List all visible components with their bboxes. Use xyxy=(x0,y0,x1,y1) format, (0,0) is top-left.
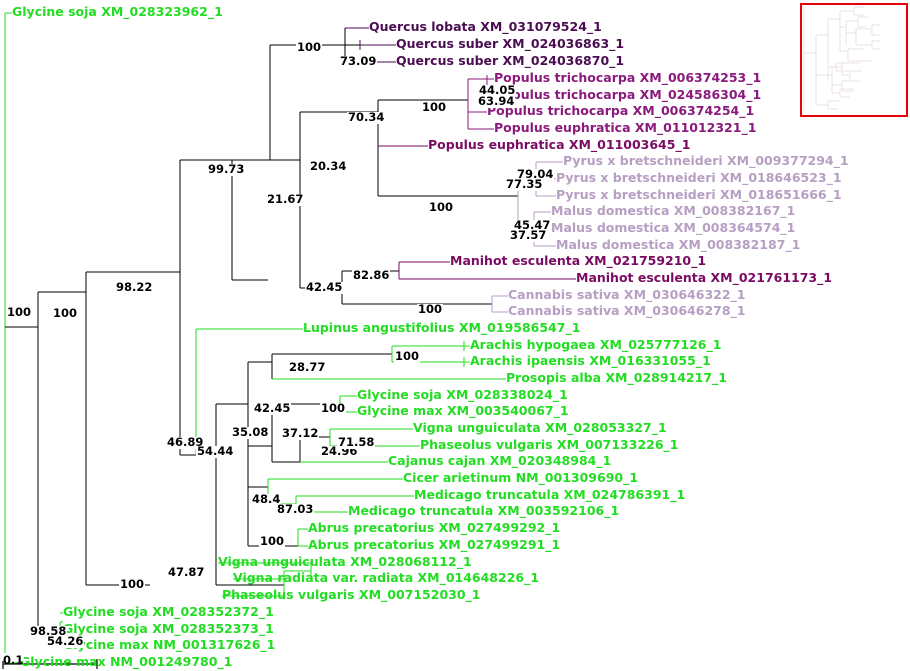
taxon-label[interactable]: Glycine max NM_001317626_1 xyxy=(63,639,275,652)
bootstrap-value: 100 xyxy=(421,102,447,114)
taxon-label[interactable]: Glycine soja XM_028338024_1 xyxy=(357,389,568,402)
bootstrap-value: 77.35 xyxy=(505,179,543,191)
bootstrap-value: 20.34 xyxy=(309,161,347,173)
taxon-label[interactable]: Quercus suber XM_024036870_1 xyxy=(396,55,624,68)
taxon-label[interactable]: Pyrus x bretschneideri XM_018646523_1 xyxy=(556,172,842,185)
taxon-label[interactable]: Cannabis sativa XM_030646322_1 xyxy=(508,289,746,302)
taxon-label[interactable]: Abrus precatorius XM_027499292_1 xyxy=(308,522,560,535)
phylogenetic-tree-viewer[interactable]: Glycine soja XM_028323962_1Quercus lobat… xyxy=(0,0,910,671)
taxon-label[interactable]: Populus euphratica XM_011003645_1 xyxy=(428,139,690,152)
taxon-label[interactable]: Cannabis sativa XM_030646278_1 xyxy=(508,305,746,318)
taxon-label[interactable]: Malus domestica XM_008382167_1 xyxy=(551,205,795,218)
bootstrap-value: 98.22 xyxy=(115,282,153,294)
taxon-label[interactable]: Populus trichocarpa XM_006374253_1 xyxy=(494,72,761,85)
taxon-label[interactable]: Medicago truncatula XM_003592106_1 xyxy=(348,505,619,518)
bootstrap-value: 47.87 xyxy=(167,567,205,579)
scale-bar-label: 0.1 xyxy=(2,653,24,661)
bootstrap-value: 37.12 xyxy=(281,428,319,440)
taxon-label[interactable]: Populus trichocarpa XM_024586304_1 xyxy=(494,89,761,102)
bootstrap-value: 100 xyxy=(52,308,78,320)
taxon-label[interactable]: Phaseolus vulgaris XM_007152030_1 xyxy=(222,589,480,602)
taxon-label[interactable]: Quercus suber XM_024036863_1 xyxy=(396,38,624,51)
taxon-label[interactable]: Arachis hypogaea XM_025777126_1 xyxy=(470,339,721,352)
taxon-label[interactable]: Manihot esculenta XM_021761173_1 xyxy=(576,272,832,285)
bootstrap-value: 42.45 xyxy=(253,403,291,415)
bootstrap-value: 100 xyxy=(119,579,145,591)
taxon-label[interactable]: Glycine max XM_003540067_1 xyxy=(357,405,569,418)
taxon-label[interactable]: Abrus precatorius XM_027499291_1 xyxy=(308,539,560,552)
bootstrap-value: 21.67 xyxy=(266,194,304,206)
taxon-label[interactable]: Glycine soja XM_028352373_1 xyxy=(63,623,274,636)
taxon-label[interactable]: Glycine max NM_001249780_1 xyxy=(20,656,232,669)
taxon-label[interactable]: Populus euphratica XM_011012321_1 xyxy=(494,122,756,135)
taxon-label[interactable]: Cicer arietinum NM_001309690_1 xyxy=(403,472,638,485)
taxon-label[interactable]: Malus domestica XM_008364574_1 xyxy=(551,222,795,235)
bootstrap-value: 63.94 xyxy=(477,96,515,108)
bootstrap-value: 82.86 xyxy=(352,270,390,282)
taxon-label[interactable]: Glycine soja XM_028323962_1 xyxy=(12,6,223,19)
taxon-label[interactable]: Quercus lobata XM_031079524_1 xyxy=(369,21,602,34)
bootstrap-value: 37.57 xyxy=(509,230,547,242)
bootstrap-value: 73.09 xyxy=(339,56,377,68)
bootstrap-value: 54.44 xyxy=(196,446,234,458)
bootstrap-value: 100 xyxy=(428,202,454,214)
bootstrap-value: 42.45 xyxy=(305,282,343,294)
bootstrap-value: 35.08 xyxy=(231,427,269,439)
bootstrap-value: 54.26 xyxy=(46,636,84,648)
bootstrap-value: 28.77 xyxy=(288,362,326,374)
overview-minimap[interactable] xyxy=(800,3,908,117)
taxon-label[interactable]: Pyrus x bretschneideri XM_009377294_1 xyxy=(563,155,849,168)
bootstrap-value: 100 xyxy=(6,307,32,319)
bootstrap-value: 100 xyxy=(259,536,285,548)
bootstrap-value: 87.03 xyxy=(276,504,314,516)
bootstrap-value: 100 xyxy=(296,42,322,54)
taxon-label[interactable]: Populus trichocarpa XM_006374254_1 xyxy=(487,105,754,118)
taxon-label[interactable]: Arachis ipaensis XM_016331055_1 xyxy=(470,355,711,368)
bootstrap-value: 100 xyxy=(394,351,420,363)
taxon-label[interactable]: Vigna unguiculata XM_028053327_1 xyxy=(413,422,667,435)
taxon-label[interactable]: Prosopis alba XM_028914217_1 xyxy=(506,372,727,385)
taxon-label[interactable]: Lupinus angustifolius XM_019586547_1 xyxy=(303,322,580,335)
taxon-label[interactable]: Manihot esculenta XM_021759210_1 xyxy=(450,255,706,268)
bootstrap-value: 100 xyxy=(320,403,346,415)
bootstrap-value: 70.34 xyxy=(347,112,385,124)
taxon-label[interactable]: Malus domestica XM_008382187_1 xyxy=(556,239,800,252)
taxon-label[interactable]: Cajanus cajan XM_020348984_1 xyxy=(388,455,611,468)
taxon-label[interactable]: Pyrus x bretschneideri XM_018651666_1 xyxy=(556,189,842,202)
taxon-label[interactable]: Glycine soja XM_028352372_1 xyxy=(63,606,274,619)
taxon-label[interactable]: Medicago truncatula XM_024786391_1 xyxy=(414,489,685,502)
taxon-label[interactable]: Vigna unguiculata XM_028068112_1 xyxy=(218,556,472,569)
bootstrap-value: 100 xyxy=(417,304,443,316)
bootstrap-value: 71.58 xyxy=(337,437,375,449)
taxon-label[interactable]: Phaseolus vulgaris XM_007133226_1 xyxy=(420,439,678,452)
bootstrap-value: 99.73 xyxy=(207,164,245,176)
taxon-label[interactable]: Vigna radiata var. radiata XM_014648226_… xyxy=(233,572,539,585)
